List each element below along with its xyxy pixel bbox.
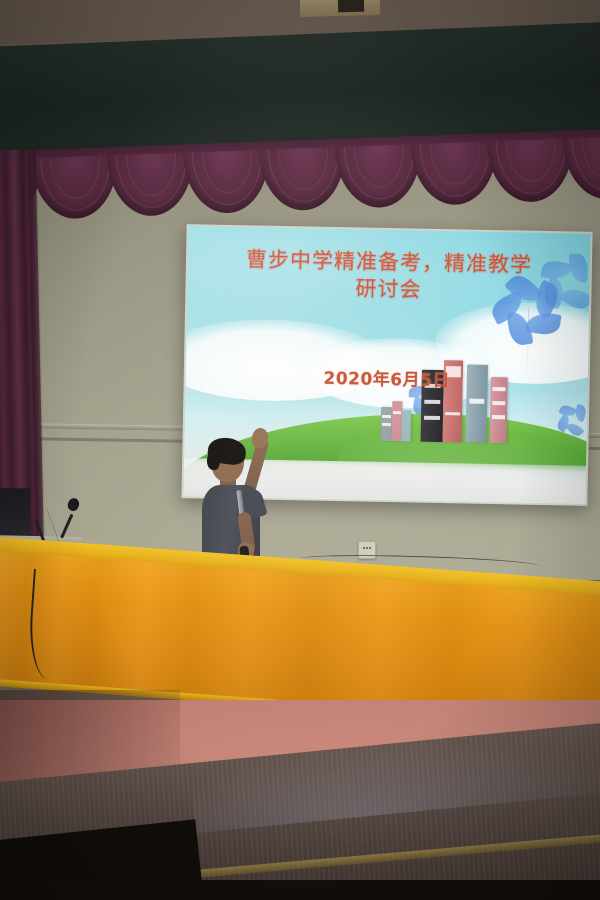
valance-swag (335, 144, 423, 209)
book-label (424, 399, 441, 403)
book-label (445, 412, 459, 415)
valance-swag (563, 136, 600, 201)
book (402, 410, 412, 441)
mic-capsule (66, 497, 80, 513)
valance-swag (31, 155, 119, 220)
auditorium-scene: 曹步中学精准备考，精准教学 研讨会 2020年6月5日 (0, 0, 600, 900)
book (381, 407, 393, 441)
book-label (469, 398, 485, 403)
book-label (393, 411, 401, 414)
book-label (492, 401, 505, 405)
ceiling-fixture-vent (338, 0, 364, 12)
valance-swag (107, 152, 195, 217)
valance-swag (411, 141, 499, 206)
slide-title-line1: 曹步中学精准备考，精准教学 (246, 247, 532, 276)
mic-gooseneck-upper (60, 514, 73, 539)
valance-swag (259, 147, 347, 212)
valance-swag (487, 138, 575, 203)
bottom-shadow-band (0, 880, 600, 900)
book-label (492, 415, 505, 419)
book-label (424, 415, 441, 419)
valance-swag (183, 149, 271, 214)
book-label (382, 423, 390, 426)
slide-title: 曹步中学精准备考，精准教学 研讨会 (187, 245, 590, 306)
stage-side-equipment (0, 488, 31, 539)
book-label (382, 415, 390, 418)
